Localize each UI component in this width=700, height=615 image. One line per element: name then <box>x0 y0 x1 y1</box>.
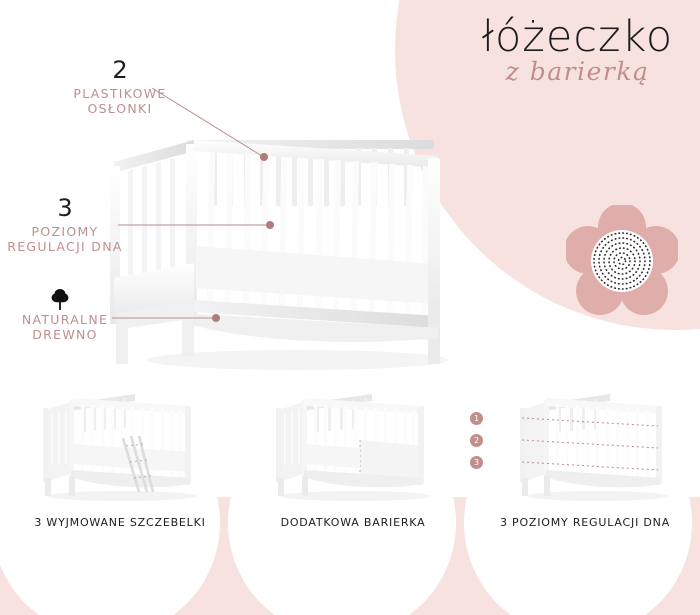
hero-crib-image <box>108 128 468 384</box>
flower-shape-icon <box>566 205 678 317</box>
leader-line-mattress-levels <box>118 219 278 231</box>
feature-card-three-levels[interactable]: 1 2 3 3 POZIOMY REGULACJI DNA <box>470 388 700 548</box>
infographic-canvas: łóżeczko z barierką <box>0 0 700 615</box>
annotation-number: 3 <box>0 196 130 220</box>
feature-image-removable-slats <box>27 388 213 506</box>
feature-caption-extra-barrier: DODATKOWA BARIERKA <box>238 516 468 529</box>
feature-image-three-levels <box>492 388 678 506</box>
level-badge-3: 3 <box>470 456 483 469</box>
decorative-flower-seal <box>566 205 678 317</box>
leader-line-natural-wood <box>112 312 227 324</box>
annotation-label-line1: POZIOMY <box>0 224 130 239</box>
annotation-label-line2: DREWNO <box>0 327 130 342</box>
annotation-number: 2 <box>60 58 180 82</box>
leader-line-plastic-covers <box>150 86 275 166</box>
feature-caption-three-levels: 3 POZIOMY REGULACJI DNA <box>470 516 700 529</box>
annotation-mattress-levels: 3 POZIOMY REGULACJI DNA <box>0 196 130 254</box>
feature-thumbnail-row: 3 WYJMOWANE SZCZEBELKI <box>0 388 700 548</box>
product-title-block: łóżeczko z barierką <box>460 14 695 86</box>
page-subtitle: z barierką <box>460 58 695 86</box>
feature-image-extra-barrier <box>260 388 446 506</box>
annotation-label-line1: NATURALNE <box>0 312 130 327</box>
annotation-label-line2: REGULACJI DNA <box>0 239 130 254</box>
tree-icon <box>50 288 70 312</box>
feature-card-extra-barrier[interactable]: DODATKOWA BARIERKA <box>238 388 468 548</box>
feature-caption-removable-slats: 3 WYJMOWANE SZCZEBELKI <box>5 516 235 529</box>
level-badge-1: 1 <box>470 412 483 425</box>
annotation-natural-wood: NATURALNE DREWNO <box>0 312 130 342</box>
level-badge-2: 2 <box>470 434 483 447</box>
feature-card-removable-slats[interactable]: 3 WYJMOWANE SZCZEBELKI <box>5 388 235 548</box>
page-title: łóżeczko <box>460 14 695 60</box>
